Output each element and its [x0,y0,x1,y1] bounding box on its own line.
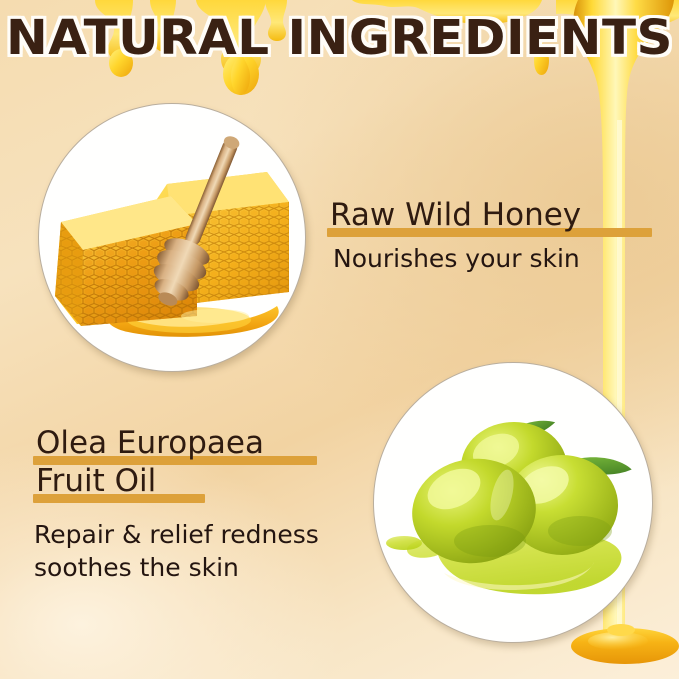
olive-title-line-2: Fruit Oil [36,462,264,500]
honey-pool-highlight [588,632,648,650]
ingredients-poster: NATURAL INGREDIENTS [0,0,679,679]
honey-pool-ripple [607,624,635,636]
honey-pool-bottom [571,628,679,664]
page-title: NATURAL INGREDIENTS [0,14,679,62]
honey-ingredient-benefit: Nourishes your skin [333,243,580,274]
honeycomb-image [38,103,306,372]
olive-benefit-line-2: soothes the skin [34,551,319,584]
olive-ingredient-benefit: Repair & relief redness soothes the skin [34,518,319,584]
honeycomb-illustration [39,104,305,371]
olives-image [373,362,653,643]
olives-illustration [374,363,652,642]
honey-ingredient-title: Raw Wild Honey [330,196,581,234]
olive-ingredient-title: Olea Europaea Fruit Oil [36,424,264,500]
olive-title-line-1: Olea Europaea [36,424,264,462]
olive-benefit-line-1: Repair & relief redness [34,518,319,551]
